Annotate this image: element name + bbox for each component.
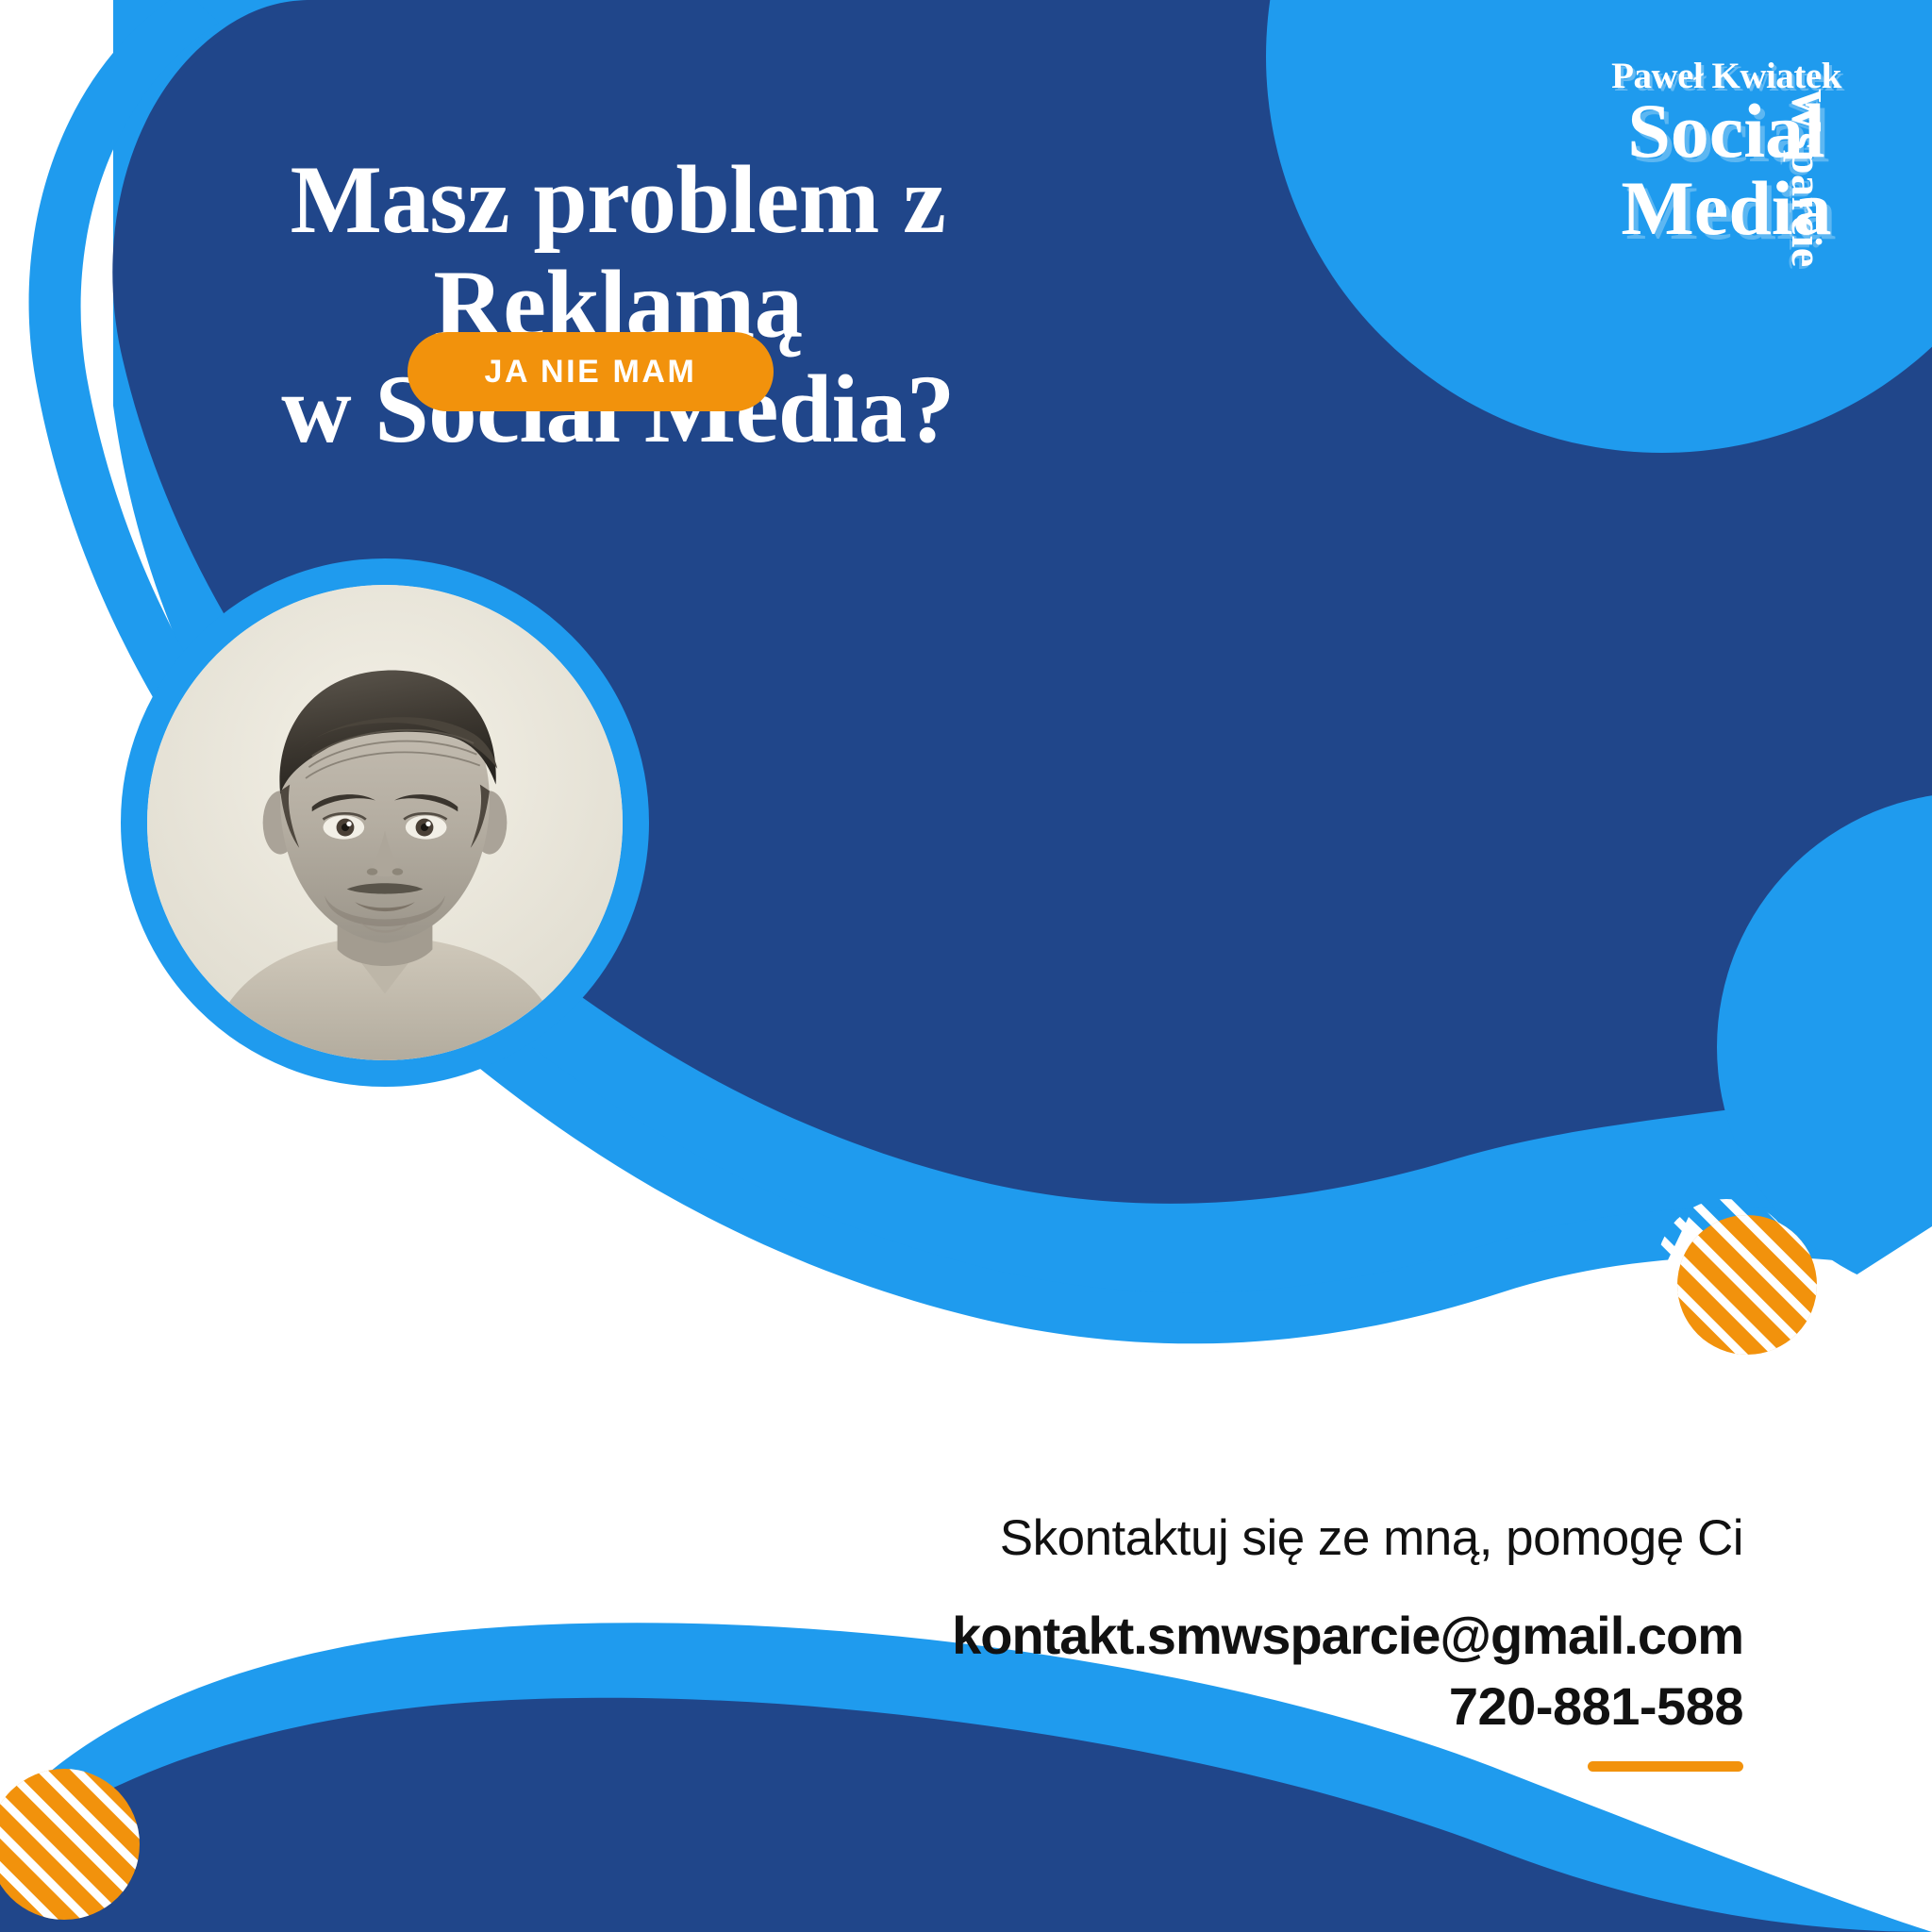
contact-phone[interactable]: 720-881-588 — [566, 1675, 1743, 1737]
cta-button-ja-nie-mam[interactable]: JA NIE MAM — [408, 332, 774, 411]
page-title: Masz problem z Reklamą w Social Media? — [146, 148, 1090, 463]
accent-underline — [1588, 1761, 1743, 1772]
brand-logo: Paweł Kwiatek Social Media Wsparcie — [1594, 40, 1915, 257]
contact-lead-text: Skontaktuj się ze mną, pomogę Ci — [566, 1509, 1743, 1567]
contact-block: Skontaktuj się ze mną, pomogę Ci kontakt… — [566, 1509, 1743, 1772]
poster-canvas: Masz problem z Reklamą w Social Media? J… — [0, 0, 1932, 1932]
contact-email[interactable]: kontakt.smwsparcie@gmail.com — [566, 1605, 1743, 1666]
portrait-photo — [147, 585, 623, 1060]
portrait-avatar — [121, 558, 649, 1087]
logo-vertical-wsparcie: Wsparcie — [1782, 89, 1832, 268]
